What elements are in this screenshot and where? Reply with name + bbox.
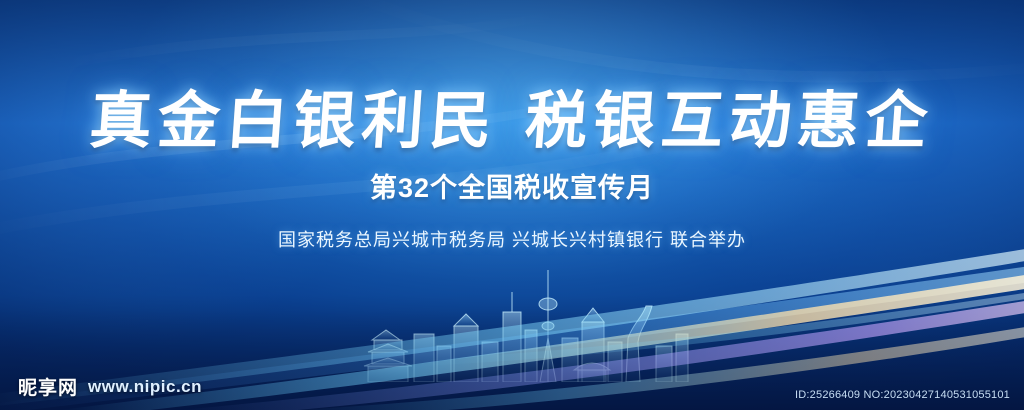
organizer-line: 国家税务总局兴城市税务局 兴城长兴村镇银行 联合举办 [0, 226, 1024, 252]
watermark-url: www.nipic.cn [88, 377, 202, 397]
poster-canvas: 真金白银利民 税银互动惠企 第32个全国税收宣传月 国家税务总局兴城市税务局 兴… [0, 0, 1024, 410]
asset-id-code: ID:25266409 NO:20230427140531055101 [795, 389, 1010, 401]
subtitle: 第32个全国税收宣传月 [0, 166, 1024, 205]
watermark: 昵享网 www.nipic.cn [18, 373, 202, 400]
page-title: 真金白银利民 税银互动惠企 [0, 70, 1024, 160]
watermark-logo: 昵享网 [18, 373, 78, 400]
